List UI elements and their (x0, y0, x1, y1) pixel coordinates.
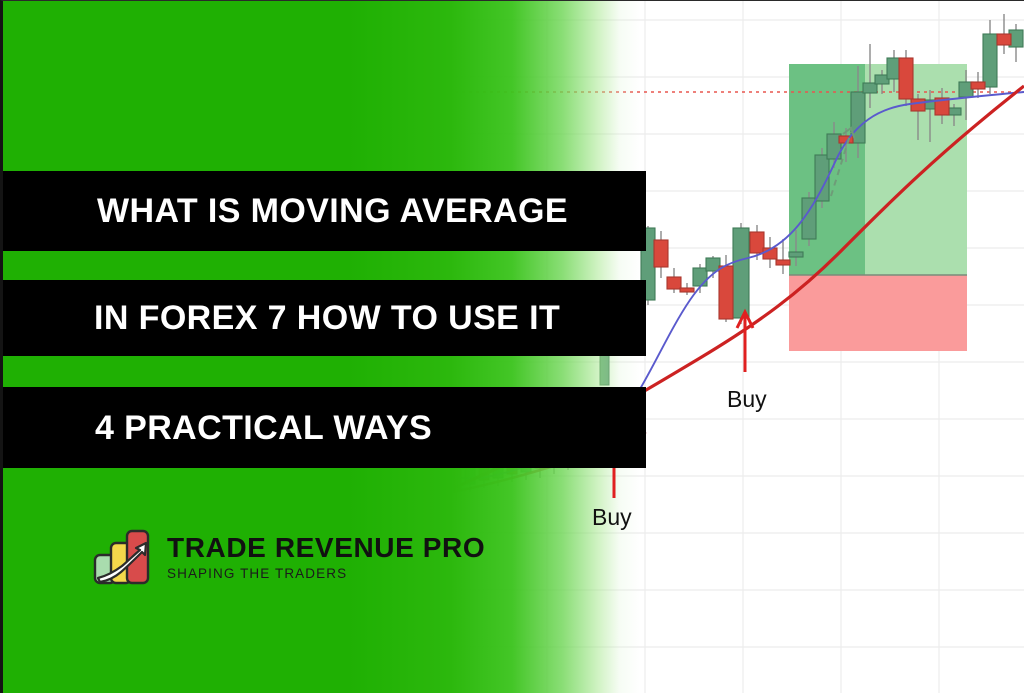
bar-chart-arrow-icon (92, 528, 154, 586)
title-line-3-text: 4 PRACTICAL WAYS (0, 411, 432, 445)
buy-label-right: Buy (727, 386, 767, 413)
zone-stop-loss (789, 275, 967, 351)
title-bar-line-1: WHAT IS MOVING AVERAGE (0, 171, 646, 251)
brand-logo: TRADE REVENUE PRO SHAPING THE TRADERS (92, 528, 485, 586)
brand-name: TRADE REVENUE PRO (167, 534, 485, 562)
title-line-1-text: WHAT IS MOVING AVERAGE (0, 194, 568, 228)
gap-candle (600, 353, 609, 385)
buy-label-left: Buy (592, 504, 632, 531)
thumbnail-canvas: Buy Buy WHAT IS MOVING AVERAGE IN FOREX … (0, 0, 1024, 693)
title-bar-line-2: IN FOREX 7 HOW TO USE IT (0, 280, 646, 356)
zone-take-profit (865, 64, 967, 275)
title-line-2-text: IN FOREX 7 HOW TO USE IT (0, 301, 560, 335)
brand-tagline: SHAPING THE TRADERS (167, 567, 485, 581)
title-bar-line-3: 4 PRACTICAL WAYS (0, 387, 646, 468)
